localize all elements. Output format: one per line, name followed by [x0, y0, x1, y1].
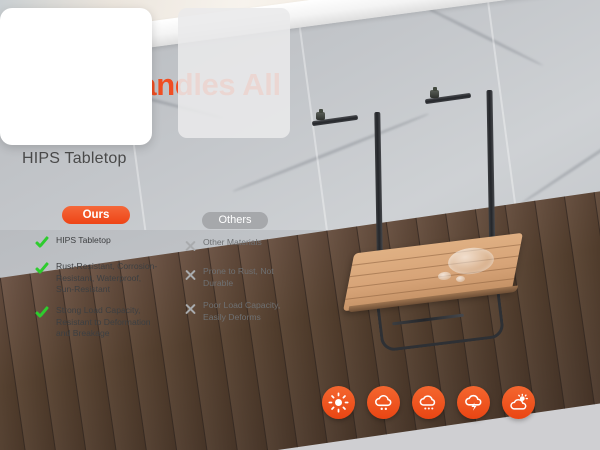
sun-behind-cloud-icon — [502, 386, 535, 419]
list-item: Strong Load Capacity, Resistant to Defor… — [34, 305, 158, 340]
others-feature-label: Other Materials — [203, 237, 262, 249]
product-marketing-banner: Easily Handles All Weather HIPS Tabletop… — [0, 0, 600, 450]
thunderstorm-cloud-icon — [457, 386, 490, 419]
others-feature-list: Other Materials Prone to Rust, Not Durab… — [182, 237, 290, 334]
ours-badge: Ours — [62, 206, 130, 224]
list-item: Poor Load Capacity, Easily Deforms — [182, 300, 290, 323]
snow-cloud-icon — [412, 386, 445, 419]
list-item: Prone to Rust, Not Durable — [182, 266, 290, 289]
check-icon — [34, 306, 50, 322]
others-feature-label: Prone to Rust, Not Durable — [203, 266, 290, 289]
check-icon — [34, 236, 50, 252]
ours-card — [0, 8, 152, 145]
x-icon — [182, 238, 199, 255]
subtitle: HIPS Tabletop — [22, 150, 127, 168]
ours-feature-list: HIPS Tabletop Rust-Resistant, Corrosion-… — [34, 235, 158, 349]
list-item: Rust-Resistant, Corrosion-Resistant, Wat… — [34, 261, 158, 296]
sun-icon — [322, 386, 355, 419]
ours-feature-label: Strong Load Capacity, Resistant to Defor… — [56, 305, 158, 340]
ours-feature-label: HIPS Tabletop — [56, 235, 111, 247]
clamp-knob-right — [430, 90, 439, 98]
list-item: Other Materials — [182, 237, 290, 255]
ours-feature-label: Rust-Resistant, Corrosion-Resistant, Wat… — [56, 261, 158, 296]
rain-cloud-icon — [367, 386, 400, 419]
others-badge: Others — [202, 212, 268, 229]
check-icon — [34, 262, 50, 278]
x-icon — [182, 267, 199, 284]
others-card — [178, 8, 290, 138]
x-icon — [182, 301, 199, 318]
others-feature-label: Poor Load Capacity, Easily Deforms — [203, 300, 290, 323]
weather-icon-row — [322, 386, 535, 419]
list-item: HIPS Tabletop — [34, 235, 158, 252]
